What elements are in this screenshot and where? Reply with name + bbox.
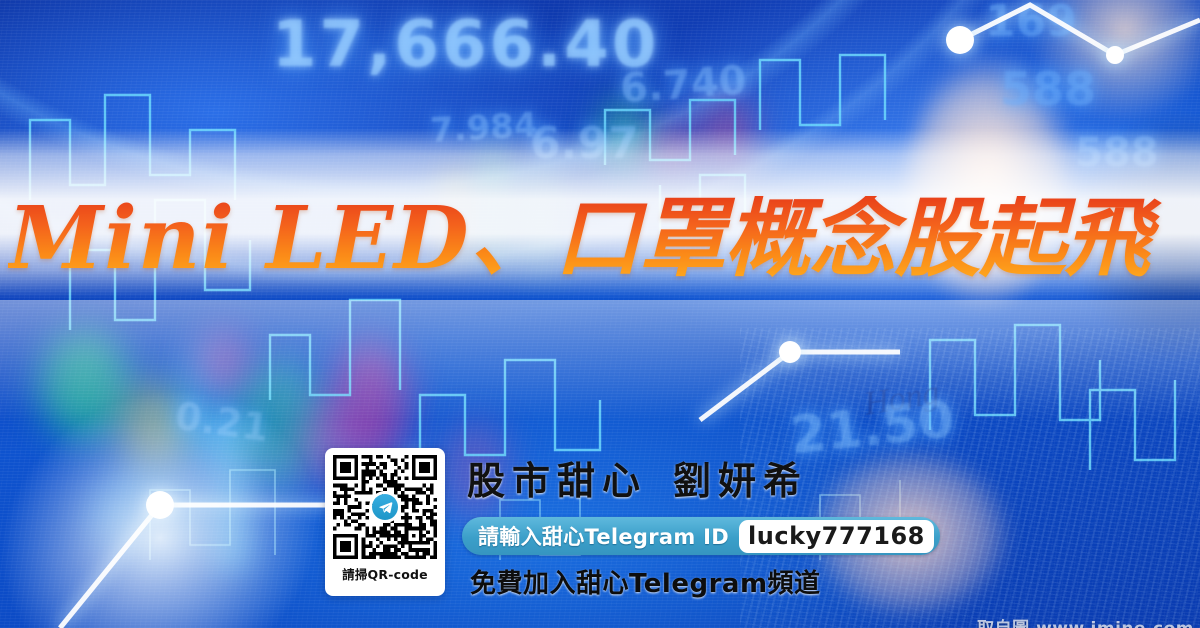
host-title: 股市甜心 [467, 459, 647, 503]
page-title: Mini LED、口罩概念股起飛 [8, 196, 1198, 282]
source-watermark: 取自圖 www.imine.com [977, 614, 1194, 628]
host-person-name: 劉妍希 [673, 459, 808, 503]
headline-separator: 、 [470, 188, 555, 289]
qr-code-card[interactable]: 請掃QR-code [325, 448, 445, 596]
qr-caption: 請掃QR-code [342, 564, 428, 583]
headline-latin: Mini LED [8, 188, 470, 289]
qr-code-image[interactable] [333, 455, 437, 559]
telegram-id-value[interactable]: lucky777168 [739, 520, 934, 553]
telegram-id-pill[interactable]: 請輸入甜心Telegram ID lucky777168 [462, 517, 940, 555]
host-name-line: 股市甜心劉妍希 [467, 450, 808, 505]
stock-promo-banner: Hong 17,666.40 6.740 7.984 6.97 169 588 … [0, 0, 1200, 628]
telegram-icon [372, 494, 398, 520]
join-channel-text: 免費加入甜心Telegram頻道 [470, 563, 821, 600]
headline-chinese: 口罩概念股起飛 [555, 188, 1150, 289]
background-midlight-band [0, 300, 1200, 420]
telegram-prompt-label: 請輸入甜心Telegram ID [478, 521, 729, 551]
